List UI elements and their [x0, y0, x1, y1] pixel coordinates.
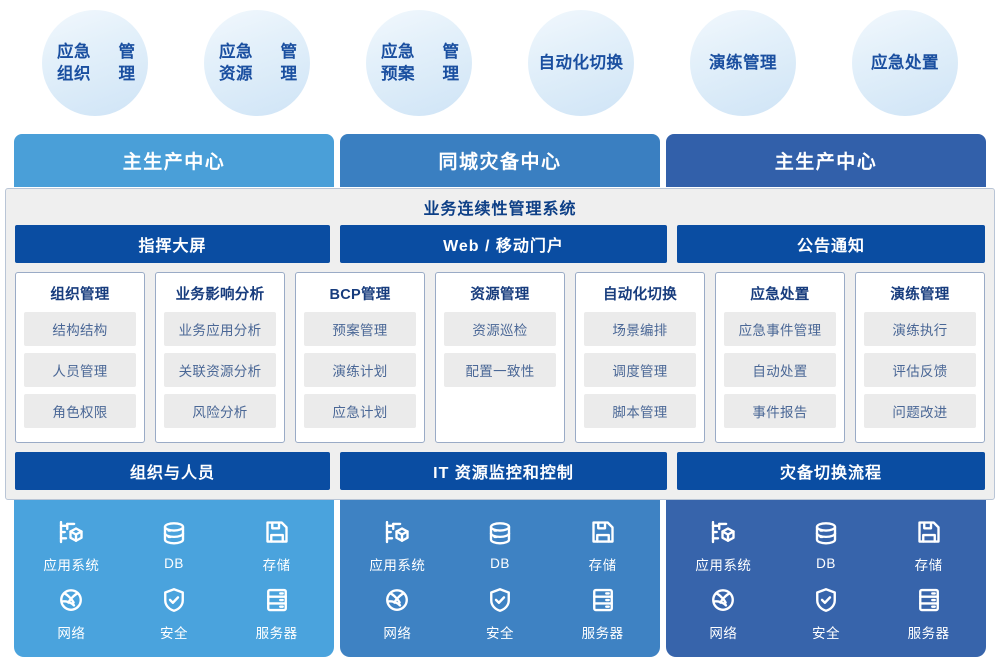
infrastructure-tile[interactable]: 存储 [914, 517, 944, 574]
infrastructure-tile-label: DB [816, 556, 836, 571]
infrastructure-tile[interactable]: DB [485, 519, 515, 571]
module-card-item[interactable]: 应急事件管理 [724, 312, 836, 346]
infrastructure-tile[interactable]: 应用系统 [43, 517, 99, 574]
module-card-item[interactable]: 角色权限 [24, 394, 136, 428]
network-icon [382, 585, 412, 615]
infrastructure-tile-label: 安全 [160, 622, 188, 642]
module-cards-row: 组织管理结构结构人员管理角色权限业务影响分析业务应用分析关联资源分析风险分析BC… [15, 272, 985, 443]
module-card-item[interactable]: 结构结构 [24, 312, 136, 346]
top-band-segment[interactable]: 公告通知 [677, 225, 985, 263]
capability-circle-label: 应急处置 [861, 52, 949, 74]
module-card: 应急处置应急事件管理自动处置事件报告 [715, 272, 845, 443]
infrastructure-tile[interactable]: 安全 [485, 585, 515, 642]
application-system-icon [382, 517, 412, 547]
capability-circle-label: 应急资源 [204, 41, 268, 86]
database-icon [485, 519, 515, 549]
server-rack-icon [262, 585, 292, 615]
security-shield-icon [811, 585, 841, 615]
infrastructure-tile-label: 服务器 [256, 622, 298, 642]
system-panel-title: 业务连续性管理系统 [15, 189, 985, 225]
infrastructure-tile[interactable]: DB [159, 519, 189, 571]
module-card-item[interactable]: 业务应用分析 [164, 312, 276, 346]
top-band-segment[interactable]: 指挥大屏 [15, 225, 330, 263]
storage-icon [914, 517, 944, 547]
infrastructure-tile-label: 服务器 [908, 622, 950, 642]
module-card: 组织管理结构结构人员管理角色权限 [15, 272, 145, 443]
capability-circle[interactable]: 应急处置 [852, 10, 958, 116]
module-card: 自动化切换场景编排调度管理脚本管理 [575, 272, 705, 443]
module-card-item[interactable]: 风险分析 [164, 394, 276, 428]
capability-circle-label: 演练管理 [699, 52, 787, 74]
capability-circle-label: 管理 [106, 41, 148, 86]
infrastructure-tile[interactable]: 网络 [56, 585, 86, 642]
module-card-item[interactable]: 调度管理 [584, 353, 696, 387]
capability-circle[interactable]: 应急组织管理 [42, 10, 148, 116]
infrastructure-tile[interactable]: 网络 [382, 585, 412, 642]
infrastructure-tile[interactable]: 服务器 [908, 585, 950, 642]
module-card-item[interactable]: 关联资源分析 [164, 353, 276, 387]
infrastructure-tile-label: 网络 [57, 622, 85, 642]
module-card-item[interactable]: 人员管理 [24, 353, 136, 387]
infrastructure-tile-label: DB [164, 556, 184, 571]
infrastructure-tile[interactable]: 应用系统 [369, 517, 425, 574]
infrastructure-tile-label: 安全 [812, 622, 840, 642]
bottom-band-segment[interactable]: IT 资源监控和控制 [340, 452, 667, 490]
infrastructure-tile-label: 网络 [709, 622, 737, 642]
module-card-item[interactable]: 评估反馈 [864, 353, 976, 387]
capability-circle[interactable]: 演练管理 [690, 10, 796, 116]
server-rack-icon [588, 585, 618, 615]
network-icon [708, 585, 738, 615]
module-card-item[interactable]: 应急计划 [304, 394, 416, 428]
module-card-title: 资源管理 [444, 283, 556, 304]
infrastructure-tile[interactable]: 安全 [811, 585, 841, 642]
bottom-band-segment[interactable]: 灾备切换流程 [677, 452, 985, 490]
module-card: 资源管理资源巡检配置一致性 [435, 272, 565, 443]
module-card: 演练管理演练执行评估反馈问题改进 [855, 272, 985, 443]
capability-circle-label: 管理 [268, 41, 310, 86]
module-card-item[interactable]: 问题改进 [864, 394, 976, 428]
infrastructure-tile[interactable]: DB [811, 519, 841, 571]
top-band-segment[interactable]: Web / 移动门户 [340, 225, 667, 263]
module-card-item[interactable]: 预案管理 [304, 312, 416, 346]
infrastructure-tile-label: 存储 [915, 554, 943, 574]
application-system-icon [56, 517, 86, 547]
database-icon [159, 519, 189, 549]
capability-circle-label: 应急预案 [366, 41, 430, 86]
capability-circles-row: 应急组织管理应急资源管理应急预案管理自动化切换演练管理应急处置 [0, 0, 1000, 126]
bottom-band: 组织与人员IT 资源监控和控制灾备切换流程 [15, 452, 985, 490]
infrastructure-tile[interactable]: 网络 [708, 585, 738, 642]
module-card-item[interactable]: 资源巡检 [444, 312, 556, 346]
bottom-band-segment[interactable]: 组织与人员 [15, 452, 330, 490]
infrastructure-tile-grid: 应用系统 DB 存储 网络 安全 [666, 499, 986, 657]
infrastructure-tile[interactable]: 安全 [159, 585, 189, 642]
module-card-title: 业务影响分析 [164, 283, 276, 304]
module-card-item[interactable]: 自动处置 [724, 353, 836, 387]
module-card-item[interactable]: 配置一致性 [444, 353, 556, 387]
module-card-title: 应急处置 [724, 283, 836, 304]
storage-icon [588, 517, 618, 547]
storage-icon [262, 517, 292, 547]
module-card-title: 演练管理 [864, 283, 976, 304]
top-band: 指挥大屏Web / 移动门户公告通知 [15, 225, 985, 263]
datacenter-column-header[interactable]: 同城灾备中心 [340, 134, 660, 187]
infrastructure-tile[interactable]: 存储 [588, 517, 618, 574]
server-rack-icon [914, 585, 944, 615]
security-shield-icon [485, 585, 515, 615]
datacenter-column-header[interactable]: 主生产中心 [14, 134, 334, 187]
capability-circle-label: 应急组织 [42, 41, 106, 86]
database-icon [811, 519, 841, 549]
infrastructure-tile-grid: 应用系统 DB 存储 网络 安全 [14, 499, 334, 657]
infrastructure-tile-label: 应用系统 [43, 554, 99, 574]
capability-circle[interactable]: 自动化切换 [528, 10, 634, 116]
infrastructure-tile-label: 存储 [263, 554, 291, 574]
module-card-item[interactable]: 演练计划 [304, 353, 416, 387]
security-shield-icon [159, 585, 189, 615]
infrastructure-tile[interactable]: 存储 [262, 517, 292, 574]
capability-circle[interactable]: 应急预案管理 [366, 10, 472, 116]
module-card-item[interactable]: 脚本管理 [584, 394, 696, 428]
capability-circle-label: 管理 [430, 41, 472, 86]
infrastructure-tile-label: DB [490, 556, 510, 571]
module-card-item[interactable]: 事件报告 [724, 394, 836, 428]
datacenter-column-header[interactable]: 主生产中心 [666, 134, 986, 187]
infrastructure-tile-label: 安全 [486, 622, 514, 642]
network-icon [56, 585, 86, 615]
module-card-item[interactable]: 演练执行 [864, 312, 976, 346]
infrastructure-tile[interactable]: 应用系统 [695, 517, 751, 574]
infrastructure-tile-label: 应用系统 [369, 554, 425, 574]
module-card: 业务影响分析业务应用分析关联资源分析风险分析 [155, 272, 285, 443]
infrastructure-tile-label: 应用系统 [695, 554, 751, 574]
bcm-system-panel: 业务连续性管理系统 指挥大屏Web / 移动门户公告通知 组织管理结构结构人员管… [5, 188, 995, 500]
infrastructure-tile-grid: 应用系统 DB 存储 网络 安全 [340, 499, 660, 657]
capability-circle-label: 自动化切换 [529, 52, 634, 74]
infrastructure-tile-label: 服务器 [582, 622, 624, 642]
application-system-icon [708, 517, 738, 547]
infrastructure-tile-label: 存储 [589, 554, 617, 574]
module-card-item[interactable]: 场景编排 [584, 312, 696, 346]
module-card-title: 组织管理 [24, 283, 136, 304]
capability-circle[interactable]: 应急资源管理 [204, 10, 310, 116]
module-card: BCP管理预案管理演练计划应急计划 [295, 272, 425, 443]
module-card-title: BCP管理 [304, 283, 416, 304]
infrastructure-tile-label: 网络 [383, 622, 411, 642]
infrastructure-tile[interactable]: 服务器 [582, 585, 624, 642]
module-card-title: 自动化切换 [584, 283, 696, 304]
infrastructure-tile[interactable]: 服务器 [256, 585, 298, 642]
